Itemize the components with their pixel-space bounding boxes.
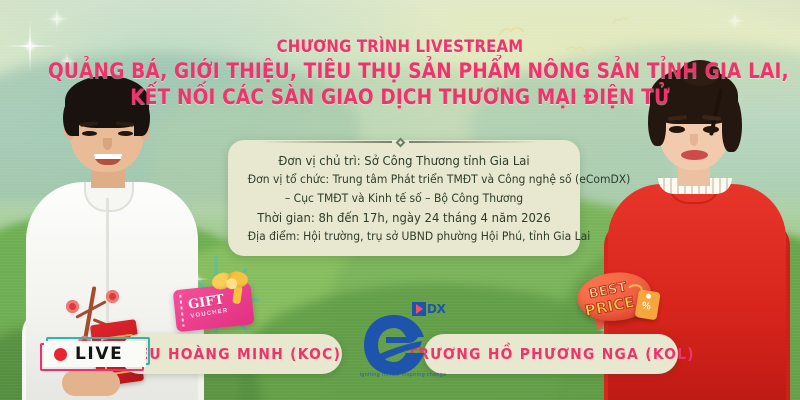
presenter-left-name: TIÊU HOÀNG MINH (KOC)	[121, 345, 341, 363]
ecomdx-mark-icon	[360, 312, 428, 378]
presenter-right-nameplate: TRƯƠNG HỒ PHƯƠNG NGA (KOL)	[424, 334, 678, 374]
headline-line-2: QUẢNG BÁ, GIỚI THIỆU, TIÊU THỤ SẢN PHẨM …	[48, 58, 752, 84]
dx-mark-icon: DX	[412, 302, 446, 316]
ecomdx-tagline: igniting minds, inspiring change	[348, 372, 458, 378]
gift-voucher-icon: GIFT VOUCHER	[171, 268, 261, 334]
live-record-dot-icon	[54, 348, 67, 361]
info-row-organizer-cont: – Cục TMĐT và Kinh tế số – Bộ Công Thươn…	[248, 189, 560, 208]
info-row-time: Thời gian: 8h đến 17h, ngày 24 tháng 4 n…	[248, 208, 560, 227]
percent-tag-label: %	[641, 300, 652, 312]
presenter-left-nameplate: TIÊU HOÀNG MINH (KOC)	[120, 334, 342, 374]
ecomdx-logo: DX igniting minds, inspiring change	[348, 300, 458, 386]
livestream-banner: CHƯƠNG TRÌNH LIVESTREAM QUẢNG BÁ, GIỚI T…	[0, 0, 800, 400]
dx-label: DX	[427, 302, 446, 316]
info-row-host: Đơn vị chủ trì: Sở Công Thương tỉnh Gia …	[248, 151, 560, 170]
event-info-card: Đơn vị chủ trì: Sở Công Thương tỉnh Gia …	[228, 140, 580, 256]
headline-line-3: KẾT NỐI CÁC SÀN GIAO DỊCH THƯƠNG MẠI ĐIỆ…	[48, 84, 752, 110]
divider-ornament	[260, 137, 540, 147]
info-row-location: Địa điểm: Hội trường, trụ sở UBND phường…	[248, 227, 560, 246]
headline-block: CHƯƠNG TRÌNH LIVESTREAM QUẢNG BÁ, GIỚI T…	[0, 36, 800, 110]
headline-line-1: CHƯƠNG TRÌNH LIVESTREAM	[48, 36, 752, 58]
live-badge-label: LIVE	[75, 346, 123, 363]
diamond-icon	[395, 137, 405, 147]
live-badge: LIVE	[40, 337, 148, 371]
best-price-badge: % BEST PRICE	[574, 263, 667, 339]
info-row-organizer: Đơn vị tổ chức: Trung tâm Phát triển TMĐ…	[248, 170, 560, 189]
